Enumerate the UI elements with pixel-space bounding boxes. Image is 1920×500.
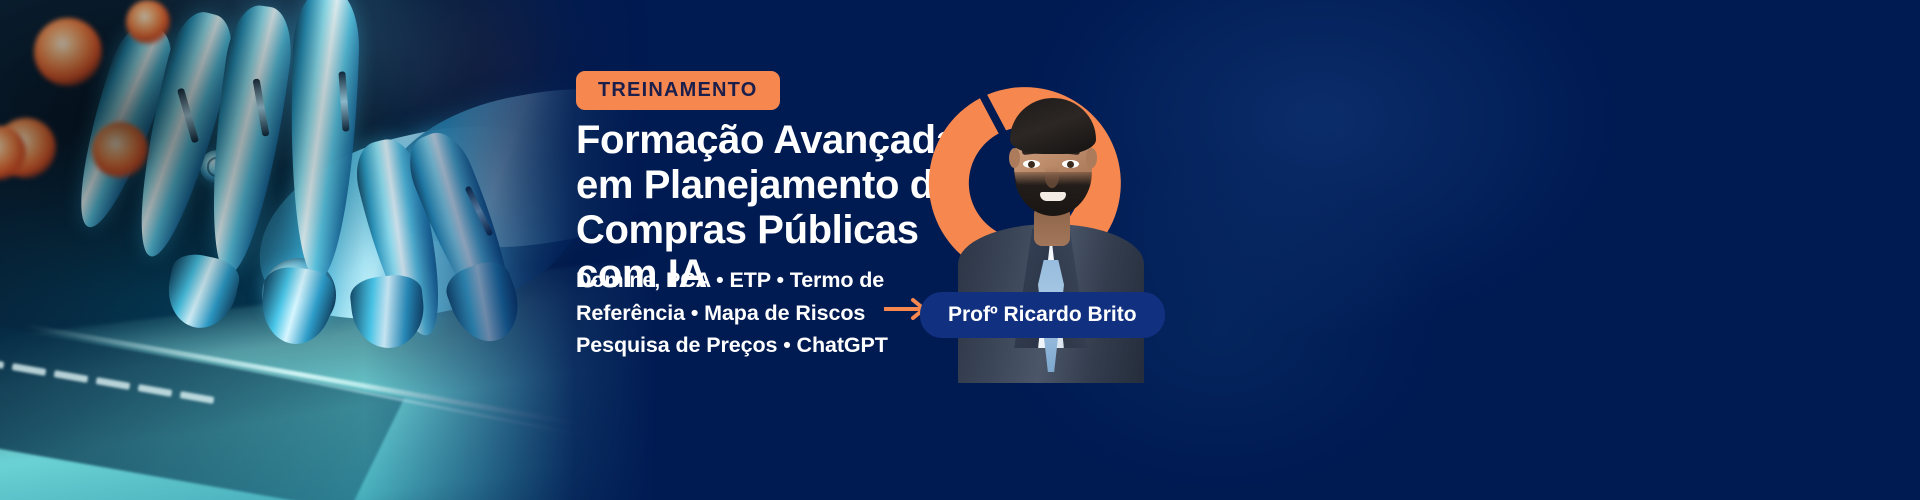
subtitle: Domine, PCA • ETP • Termo de Referência … [576, 264, 896, 362]
instructor-name-badge: Profº Ricardo Brito [920, 292, 1165, 338]
hair [1010, 98, 1096, 154]
subtitle-line-1: Domine, PCA • ETP • Termo de [576, 264, 896, 297]
subtitle-line-2: Referência • Mapa de Riscos [576, 297, 896, 330]
ear-right [1086, 148, 1097, 168]
pupil-right [1067, 161, 1074, 168]
instructor-portrait-area: Profº Ricardo Brito [890, 0, 1210, 420]
ear-left [1009, 148, 1020, 168]
mouth [1040, 192, 1066, 201]
training-badge: TREINAMENTO [576, 71, 780, 110]
eye-left [1023, 160, 1040, 168]
pupil-left [1028, 161, 1035, 168]
eye-right [1062, 160, 1079, 168]
training-promo-banner: TREINAMENTO Formação Avançada em Planeja… [0, 0, 1920, 500]
nose [1045, 166, 1059, 188]
subtitle-line-3: Pesquisa de Preços • ChatGPT [576, 329, 896, 362]
